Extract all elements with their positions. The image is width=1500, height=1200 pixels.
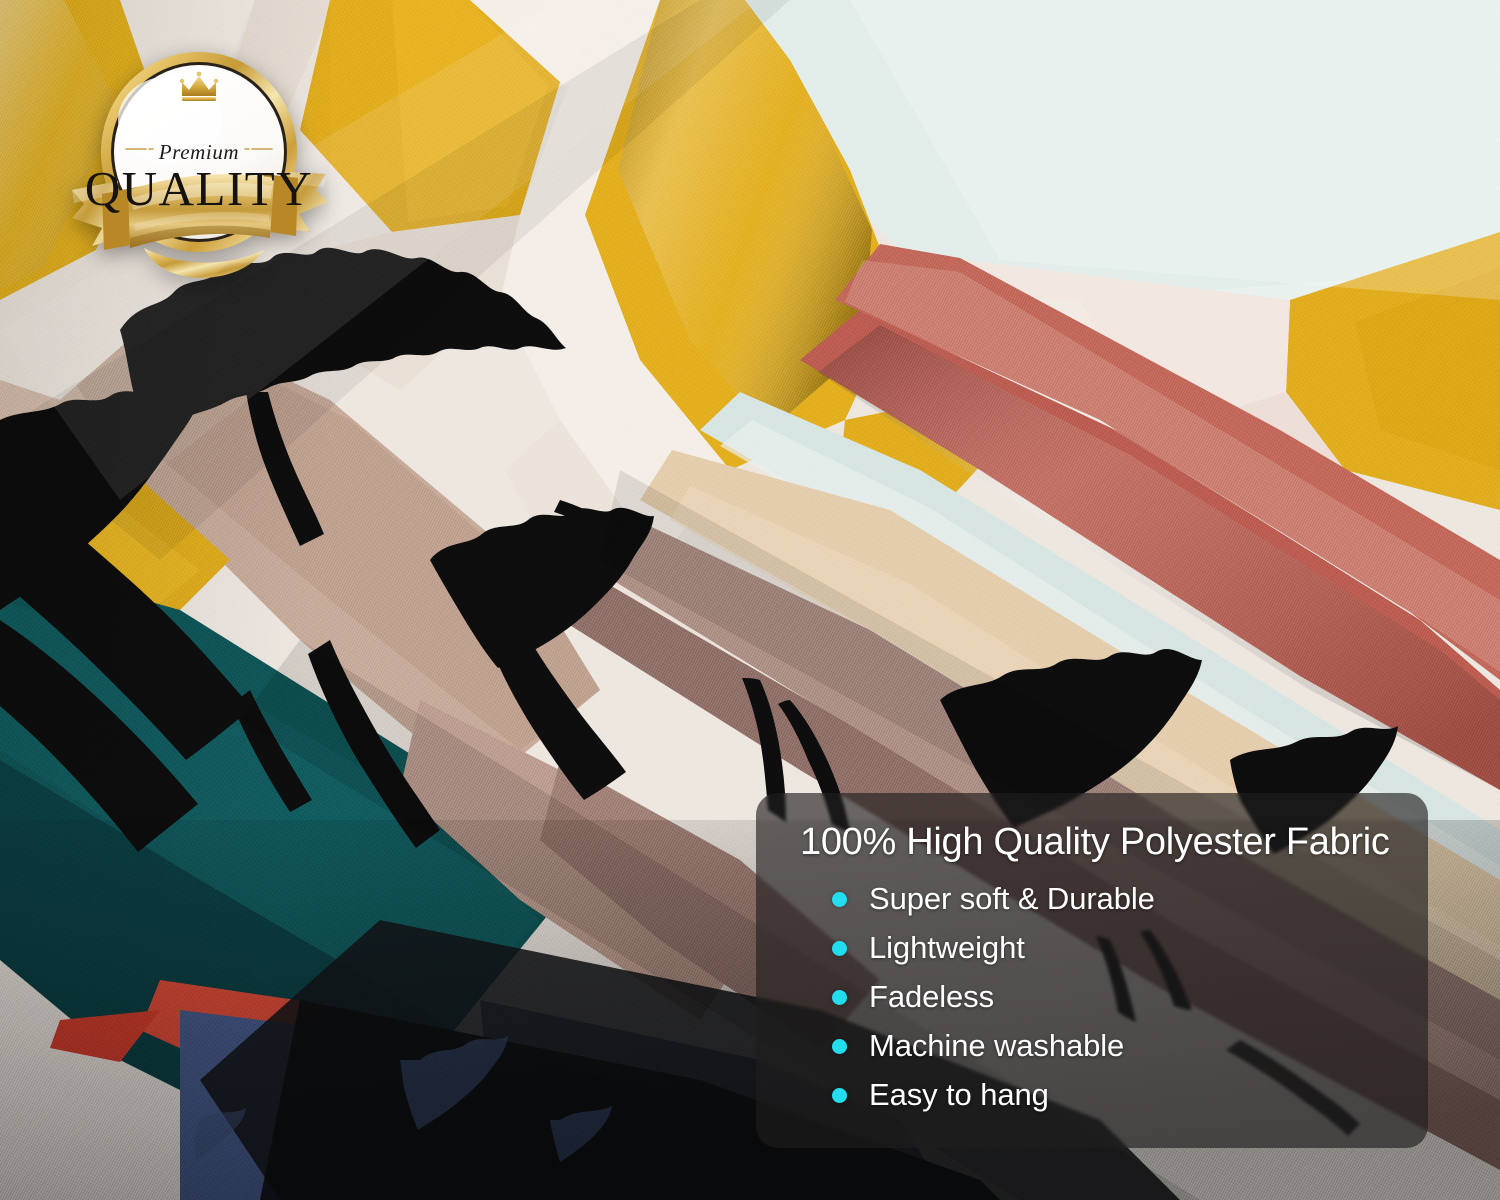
feature-list-item: Fadeless	[800, 978, 1402, 1017]
feature-item-label: Super soft & Durable	[869, 881, 1155, 917]
bullet-dot-icon	[832, 941, 847, 956]
feature-panel-title: 100% High Quality Polyester Fabric	[800, 823, 1402, 863]
feature-list-item: Machine washable	[800, 1027, 1402, 1066]
bullet-dot-icon	[832, 1088, 847, 1103]
feature-item-label: Easy to hang	[869, 1077, 1049, 1113]
feature-item-label: Machine washable	[869, 1028, 1124, 1064]
feature-list: Super soft & Durable Lightweight Fadeles…	[800, 880, 1402, 1115]
bullet-dot-icon	[832, 990, 847, 1005]
feature-list-item: Easy to hang	[800, 1076, 1402, 1115]
premium-quality-badge: Premium QUALITY	[58, 42, 340, 282]
feature-item-label: Fadeless	[869, 979, 994, 1015]
feature-callout-panel: 100% High Quality Polyester Fabric Super…	[756, 793, 1428, 1148]
feature-item-label: Lightweight	[869, 930, 1025, 966]
bullet-dot-icon	[832, 1039, 847, 1054]
feature-list-item: Lightweight	[800, 929, 1402, 968]
product-image-canvas: Premium QUALITY 100% High Quality Polyes…	[0, 0, 1500, 1200]
feature-list-item: Super soft & Durable	[800, 880, 1402, 919]
bullet-dot-icon	[832, 892, 847, 907]
